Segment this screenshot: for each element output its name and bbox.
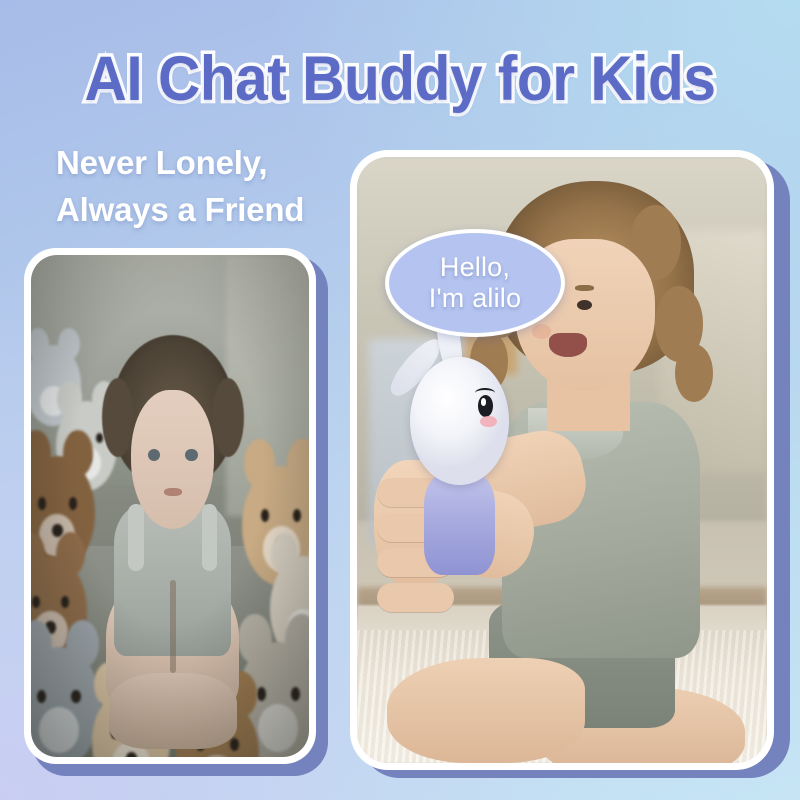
bunny-eye-icon (478, 395, 493, 417)
right-photo-image: Hello, I'm alilo (357, 157, 767, 763)
speech-bubble-line-2: I'm alilo (429, 283, 521, 314)
subtitle-line-1: Never Lonely, (56, 140, 304, 187)
bunny-head (410, 357, 508, 485)
alilo-bunny-toy (410, 357, 508, 563)
left-photo-image (31, 255, 309, 757)
page-title: AI Chat Buddy for Kids (28, 48, 772, 111)
speech-bubble: Hello, I'm alilo (385, 229, 565, 337)
subtitle-line-2: Always a Friend (56, 187, 304, 234)
vignette (31, 255, 309, 757)
bunny-body (424, 472, 495, 575)
subtitle: Never Lonely, Always a Friend (56, 140, 304, 234)
right-photo-card: Hello, I'm alilo (350, 150, 774, 770)
left-photo-card (24, 248, 316, 764)
speech-bubble-line-1: Hello, (440, 252, 510, 283)
bunny-blush-icon (480, 416, 497, 427)
